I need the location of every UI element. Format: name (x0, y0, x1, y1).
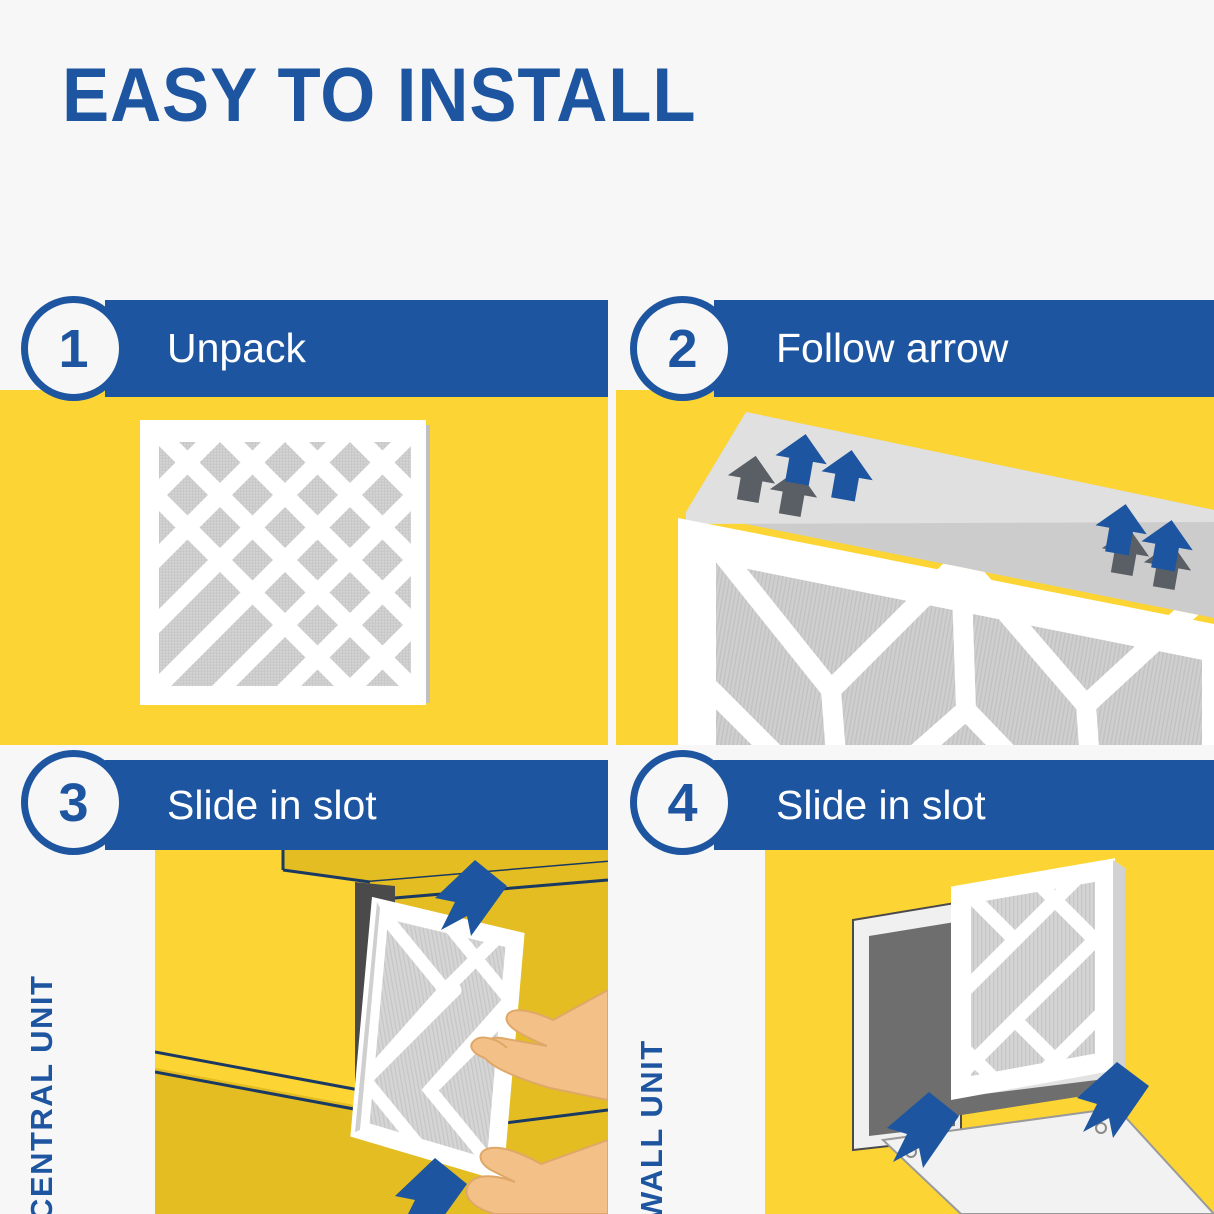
step-1-illustration (0, 390, 608, 745)
step-1-label: Unpack (167, 325, 306, 372)
step-3-number: 3 (58, 772, 88, 834)
step-2-header: Follow arrow (714, 300, 1214, 397)
step-4-header: Slide in slot (714, 760, 1214, 850)
step-1-number-badge: 1 (21, 296, 126, 401)
step-3-header: Slide in slot (105, 760, 608, 850)
step-4-number: 4 (667, 772, 697, 834)
wall-unit-scene (765, 840, 1214, 1214)
step-4-illustration (765, 840, 1214, 1214)
step-4-label: Slide in slot (776, 782, 986, 829)
airflow-arrow-blue-right (1078, 498, 1208, 578)
step-4-side-label: WALL UNIT (634, 1039, 670, 1214)
step-1-header: Unpack (105, 300, 608, 397)
step-3-number-badge: 3 (21, 750, 126, 855)
airflow-arrow-blue-left (758, 428, 888, 508)
step-3-label: Slide in slot (167, 782, 377, 829)
step-3-side-label: CENTRAL UNIT (24, 975, 60, 1214)
central-unit-scene (155, 840, 608, 1214)
page-title: EASY TO INSTALL (62, 52, 696, 139)
step-3-illustration (155, 840, 608, 1214)
step-2-label: Follow arrow (776, 325, 1008, 372)
step-2-number-badge: 2 (630, 296, 735, 401)
infographic-root: EASY TO INSTALL (0, 0, 1214, 1214)
flat-air-filter-icon (0, 390, 608, 745)
step-4-number-badge: 4 (630, 750, 735, 855)
step-1-number: 1 (58, 318, 88, 380)
step-2-number: 2 (667, 318, 697, 380)
